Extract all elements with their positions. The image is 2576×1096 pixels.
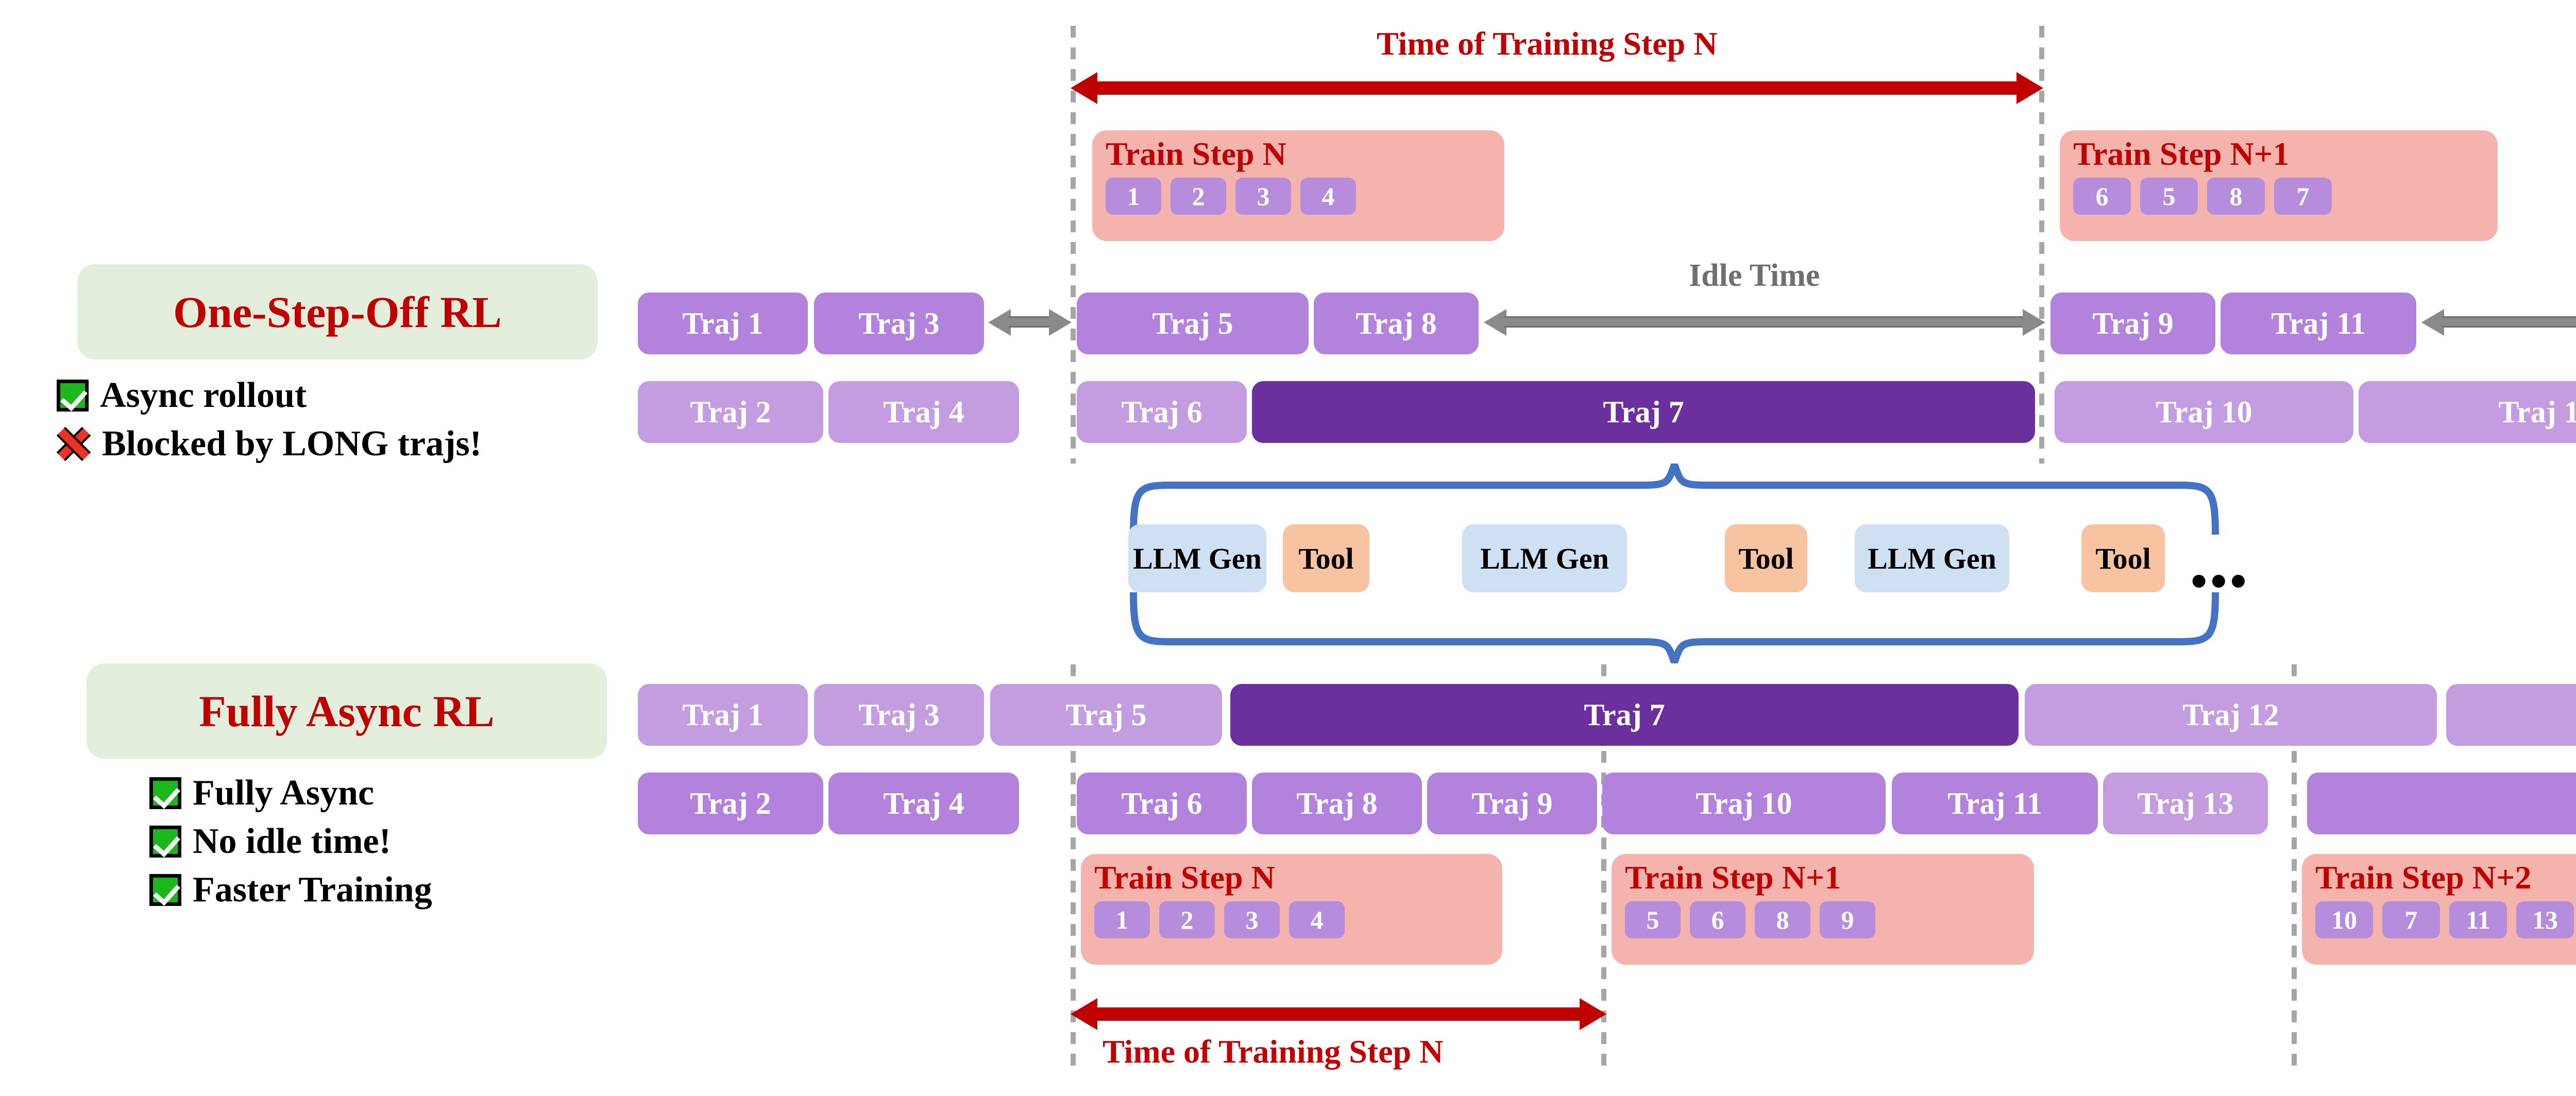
- traj-block-long[interactable]: Traj 7: [1252, 381, 2035, 443]
- chip: 1: [1106, 178, 1161, 215]
- chip: 3: [1224, 901, 1280, 938]
- rollout-box-llm-gen[interactable]: LLM Gen: [1462, 524, 1627, 592]
- traj-block[interactable]: Traj 11: [2221, 293, 2416, 354]
- traj-block[interactable]: Traj 2: [638, 381, 823, 443]
- time-of-training-step-n-arrow-top: [1071, 72, 2043, 104]
- traj-block[interactable]: Traj 12: [2025, 684, 2437, 746]
- section-title-one-step-off: One-Step-Off RL: [77, 264, 598, 359]
- chip: 9: [1820, 901, 1875, 938]
- chip: 7: [2382, 901, 2440, 938]
- time-of-training-step-n-arrow-bottom: [1071, 998, 1606, 1030]
- arrow-head-left: [1071, 998, 1097, 1030]
- check-icon: [149, 874, 181, 906]
- chip: 13: [2516, 901, 2574, 938]
- train-card-step-n-top: Train Step N 1 2 3 4: [1092, 130, 1504, 241]
- rollout-ellipsis: •••: [2191, 572, 2250, 591]
- traj-block[interactable]: Traj 4: [828, 381, 1019, 443]
- traj-block-long[interactable]: Traj 7: [1230, 684, 2019, 746]
- bullet-no-idle-time: No idle time!: [149, 821, 432, 862]
- traj-block[interactable]: Traj 10: [2055, 381, 2353, 443]
- traj-block[interactable]: Traj 5: [990, 684, 1222, 746]
- chip: 7: [2274, 178, 2332, 215]
- fully-async-bullets: Fully Async No idle time! Faster Trainin…: [149, 773, 432, 911]
- train-card-title: Train Step N+1: [2073, 138, 2486, 170]
- rollout-box-tool[interactable]: Tool: [1283, 524, 1369, 592]
- section-title-label: Fully Async RL: [199, 686, 494, 737]
- check-icon: [57, 380, 89, 412]
- chip: 6: [2073, 178, 2131, 215]
- traj-block[interactable]: Traj 12: [2359, 381, 2576, 443]
- arrow-head-left: [2421, 309, 2444, 336]
- chip: 8: [1755, 901, 1810, 938]
- section-title-label: One-Step-Off RL: [173, 286, 502, 338]
- one-step-off-bullets: Async rollout Blocked by LONG trajs!: [57, 375, 482, 465]
- chip: 2: [1171, 178, 1226, 215]
- arrow-head-left: [988, 309, 1011, 336]
- arrow-head-left: [1071, 72, 1097, 104]
- traj-block[interactable]: Traj 1: [638, 293, 808, 354]
- chip: 8: [2207, 178, 2265, 215]
- train-card-step-n1-top: Train Step N+1 6 5 8 7: [2060, 130, 2498, 241]
- check-icon: [149, 777, 181, 809]
- traj-block[interactable]: Traj 3: [814, 293, 984, 354]
- bullet-label: No idle time!: [193, 821, 391, 862]
- rollout-brace-bottom: [1123, 591, 2226, 663]
- cross-icon: [57, 427, 91, 461]
- traj-block[interactable]: Traj 4: [828, 773, 1019, 834]
- traj-block[interactable]: Traj 9: [2050, 293, 2215, 354]
- traj-block[interactable]: Traj 8: [1314, 293, 1479, 354]
- bullet-fully-async: Fully Async: [149, 773, 432, 814]
- train-card-title: Train Step N+2: [2315, 861, 2576, 894]
- arrow-shaft: [1009, 316, 1051, 328]
- handoff-arrow-small: [988, 309, 1072, 336]
- rollout-box-tool[interactable]: Tool: [1725, 524, 1807, 592]
- traj-block[interactable]: Traj 1: [638, 684, 808, 746]
- chip: 1: [1094, 901, 1150, 938]
- check-icon: [149, 826, 181, 858]
- traj-block[interactable]: Traj 2: [638, 773, 823, 834]
- traj-block[interactable]: Traj 8: [1252, 773, 1422, 834]
- train-card-title: Train Step N: [1094, 861, 1491, 894]
- arrow-shaft: [1504, 316, 2025, 328]
- idle-time-label: Idle Time: [1689, 258, 1820, 294]
- arrow-shaft: [1094, 81, 2020, 95]
- arrow-head-right: [1049, 309, 1072, 336]
- train-card-chips: 5 6 8 9: [1625, 901, 2023, 938]
- traj-block[interactable]: Traj 11: [1892, 773, 2098, 834]
- arrow-shaft: [2442, 316, 2576, 328]
- arrow-shaft: [1094, 1007, 1583, 1021]
- chip: 11: [2449, 901, 2507, 938]
- arrow-head-right: [2016, 72, 2043, 104]
- chip: 4: [1289, 901, 1345, 938]
- bullet-label: Fully Async: [193, 773, 374, 814]
- bullet-label: Async rollout: [100, 375, 307, 416]
- bullet-faster-training: Faster Training: [149, 869, 432, 911]
- traj-block[interactable]: Traj 13: [2103, 773, 2268, 834]
- arrow-head-right: [2023, 309, 2045, 336]
- rollout-box-tool[interactable]: Tool: [2081, 524, 2165, 592]
- train-card-chips: 10 7 11 13: [2315, 901, 2576, 938]
- bullet-label: Faster Training: [193, 869, 432, 911]
- traj-block[interactable]: Traj 5: [1077, 293, 1309, 354]
- traj-block[interactable]: Traj 3: [814, 684, 984, 746]
- train-card-title: Train Step N: [1106, 138, 1493, 170]
- train-card-title: Train Step N+1: [1625, 861, 2023, 894]
- chip: 5: [2140, 178, 2198, 215]
- arrow-head-right: [1580, 998, 1606, 1030]
- train-card-chips: 1 2 3 4: [1094, 901, 1491, 938]
- chip: 6: [1690, 901, 1745, 938]
- train-card-chips: 6 5 8 7: [2073, 178, 2486, 215]
- train-card-chips: 1 2 3 4: [1106, 178, 1493, 215]
- diagram-canvas: Time of Training Step N One-Step-Off RL …: [0, 0, 2576, 1096]
- bullet-async-rollout: Async rollout: [57, 375, 482, 416]
- chip: 5: [1625, 901, 1681, 938]
- traj-block[interactable]: [2446, 684, 2576, 746]
- idle-time-arrow: [1484, 309, 2045, 336]
- train-card-step-n-bottom: Train Step N 1 2 3 4: [1081, 854, 1502, 965]
- bottom-arrow-label: Time of Training Step N: [1103, 1033, 1443, 1071]
- bullet-label: Blocked by LONG trajs!: [102, 423, 482, 465]
- chip: 2: [1159, 901, 1215, 938]
- top-arrow-label: Time of Training Step N: [1377, 25, 1717, 63]
- chip: 10: [2315, 901, 2373, 938]
- rollout-box-llm-gen[interactable]: LLM Gen: [1128, 524, 1266, 592]
- section-title-fully-async: Fully Async RL: [87, 663, 607, 759]
- rollout-brace-top: [1123, 464, 2226, 536]
- handoff-arrow-trailing: [2421, 309, 2576, 336]
- train-card-step-n2-bottom: Train Step N+2 10 7 11 13: [2302, 854, 2576, 965]
- traj-block[interactable]: Traj 9: [1427, 773, 1597, 834]
- arrow-head-left: [1484, 309, 1506, 336]
- traj-block[interactable]: Traj 6: [1077, 381, 1247, 443]
- bullet-blocked-by-long-trajs: Blocked by LONG trajs!: [57, 423, 482, 465]
- traj-block[interactable]: Traj 10: [1602, 773, 1886, 834]
- traj-block[interactable]: Traj 6: [1077, 773, 1247, 834]
- chip: 4: [1300, 178, 1356, 215]
- rollout-box-llm-gen[interactable]: LLM Gen: [1855, 524, 2009, 592]
- train-card-step-n1-bottom: Train Step N+1 5 6 8 9: [1612, 854, 2034, 965]
- traj-block[interactable]: [2307, 773, 2576, 834]
- chip: 3: [1235, 178, 1291, 215]
